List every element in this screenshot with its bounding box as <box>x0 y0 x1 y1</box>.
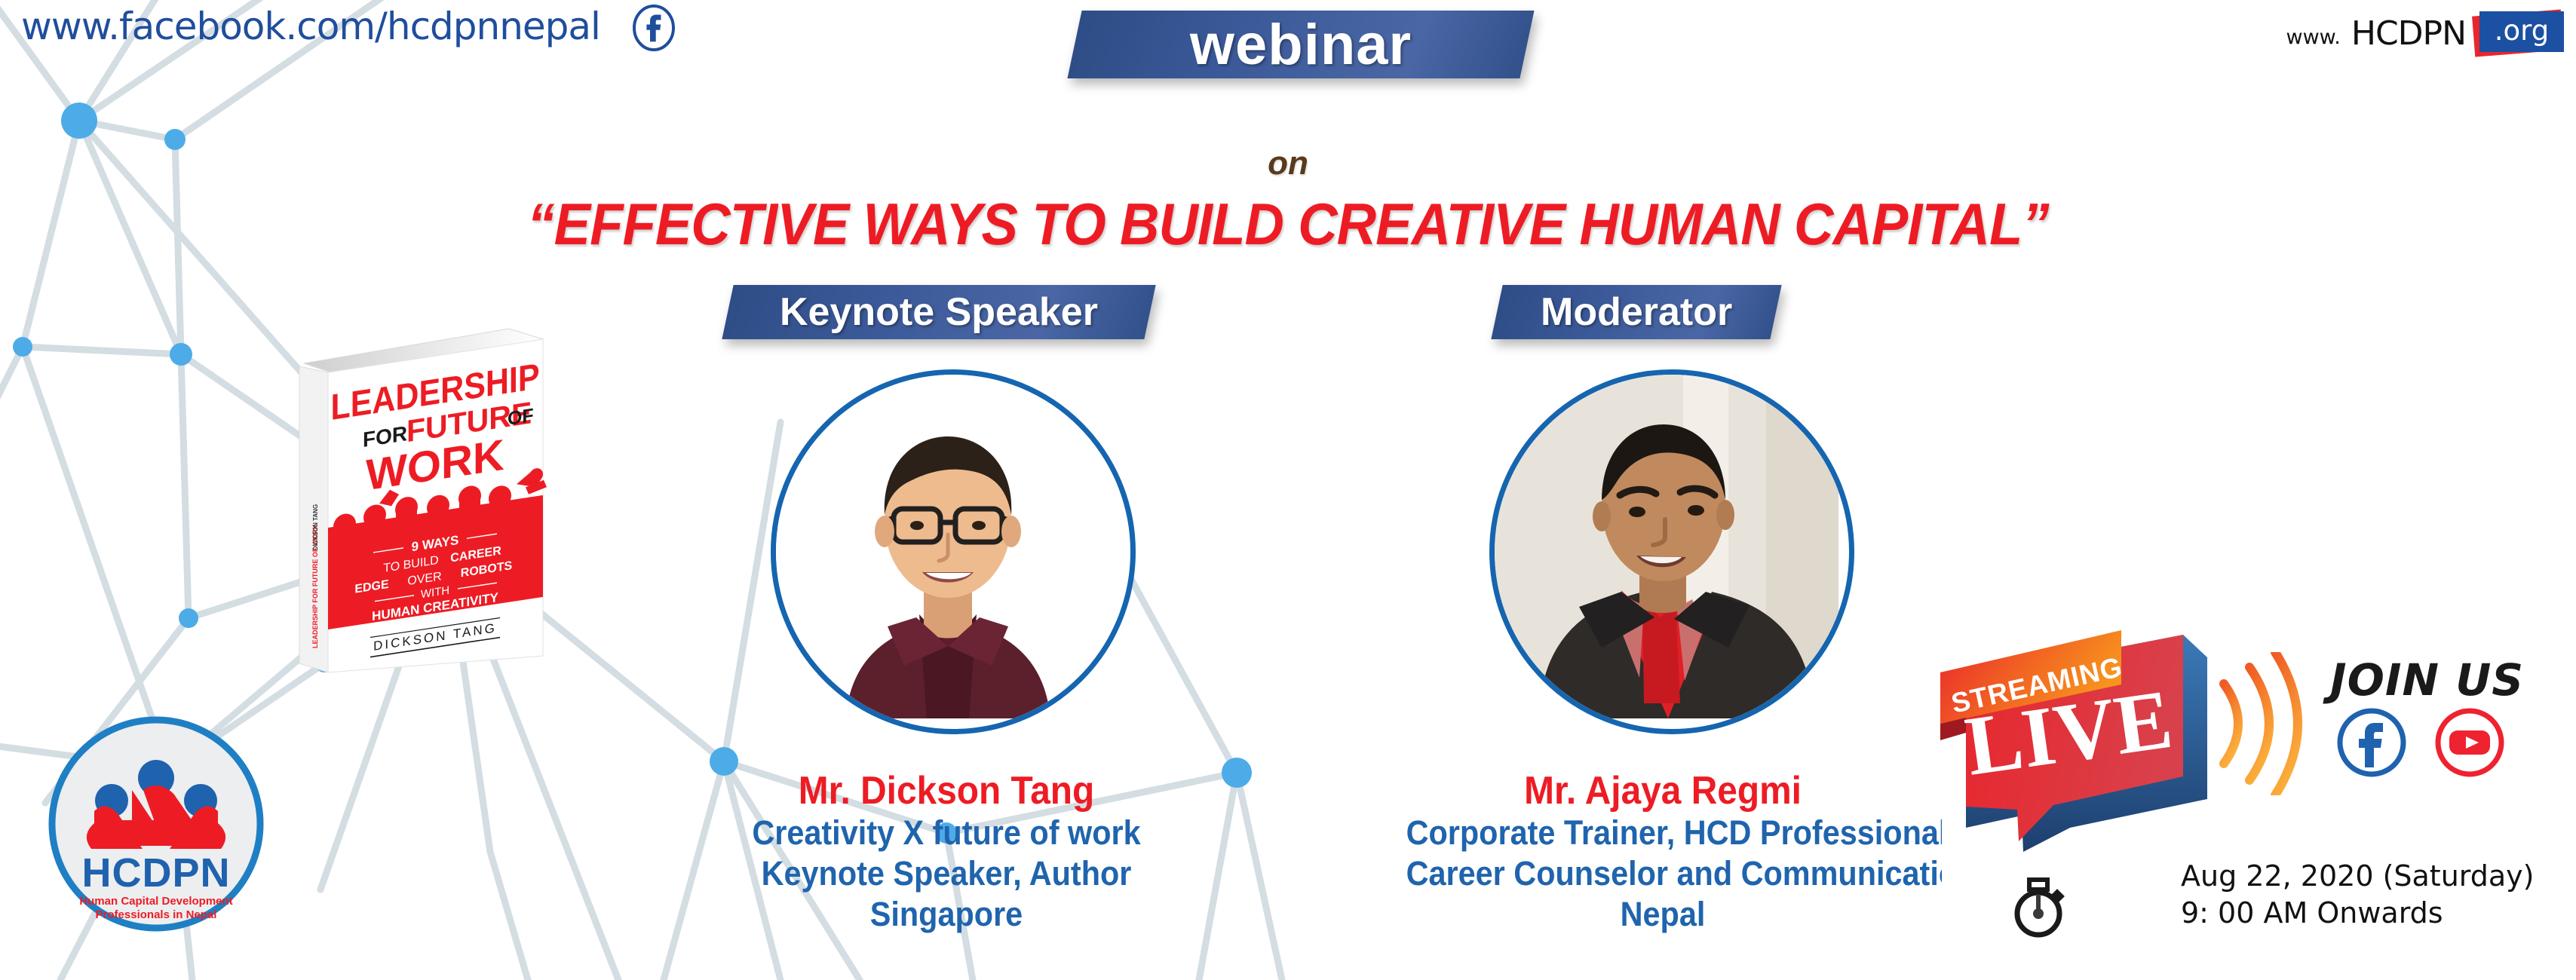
org-tld-badge: .org <box>2476 11 2565 55</box>
org-badge-label: .org <box>2495 14 2549 47</box>
broadcast-waves-icon <box>2213 652 2319 795</box>
title-connector: on <box>0 145 2576 182</box>
logo-tagline-line2: Professionals in Nepal <box>96 908 217 921</box>
hcdpn-logo: HCDPN Human Capital Development Professi… <box>47 715 265 933</box>
speaker-details-keynote: Mr. Dickson Tang Creativity X future of … <box>667 769 1225 935</box>
facebook-circle-icon[interactable] <box>2336 707 2407 778</box>
book-cover-image: LEADERSHIP FOR FUTURE OF WORK DICKSON TA… <box>283 324 562 686</box>
webinar-badge-label: webinar <box>1190 12 1412 78</box>
logo-tagline-line1: Human Capital Development <box>79 895 232 908</box>
speaker-detail-line: Nepal <box>1406 894 1920 935</box>
book-spine-author: DICKSON TANG <box>312 504 319 550</box>
youtube-circle-icon[interactable] <box>2434 707 2505 778</box>
webinar-poster: www.facebook.com/hcdpnnepal webinar www.… <box>0 0 2576 980</box>
speaker-detail-line: Corporate Trainer, HCD Professional <box>1406 813 1920 853</box>
role-badge-moderator: Moderator <box>1491 285 1781 339</box>
avatar-keynote-speaker <box>771 369 1136 734</box>
org-badge-blue-box: .org <box>2479 11 2564 52</box>
page-title: “EFFECTIVE WAYS TO BUILD CREATIVE HUMAN … <box>90 190 2486 259</box>
role-badge-keynote-speaker: Keynote Speaker <box>722 285 1155 339</box>
facebook-f-icon[interactable] <box>632 5 676 51</box>
event-date: Aug 22, 2020 (Saturday) <box>2181 858 2534 895</box>
avatar-moderator <box>1489 369 1854 734</box>
book-title-of: OF <box>508 405 534 430</box>
role-badge-keynote-label: Keynote Speaker <box>780 289 1098 335</box>
hcdpn-website-www: www. <box>2286 26 2341 49</box>
speaker-name: Mr. Dickson Tang <box>690 769 1204 813</box>
stopwatch-icon <box>2011 877 2065 939</box>
speaker-detail-line: Creativity X future of work <box>690 813 1204 853</box>
speaker-detail-line: Keynote Speaker, Author <box>690 853 1204 894</box>
streaming-live-badge: STREAMING LIVE <box>1927 626 2228 874</box>
hcdpn-website-name: HCDPN <box>2351 14 2466 53</box>
speaker-detail-line: Singapore <box>690 894 1204 935</box>
event-time: 9: 00 AM Onwards <box>2181 895 2534 932</box>
logo-acronym: HCDPN <box>81 850 230 896</box>
role-badge-moderator-label: Moderator <box>1541 289 1732 335</box>
event-schedule: Aug 22, 2020 (Saturday) 9: 00 AM Onwards <box>2181 858 2534 931</box>
webinar-badge: webinar <box>1067 11 1534 78</box>
speaker-details-moderator: Mr. Ajaya Regmi Corporate Trainer, HCD P… <box>1384 769 1942 935</box>
speaker-name: Mr. Ajaya Regmi <box>1406 769 1920 813</box>
social-links <box>2336 707 2505 778</box>
speaker-detail-line: Career Counselor and Communicatior <box>1406 853 1920 894</box>
hcdpn-website[interactable]: www. HCDPN .org <box>2286 11 2566 56</box>
join-us-label: JOIN US <box>2330 654 2524 706</box>
facebook-page-url[interactable]: www.facebook.com/hcdpnnepal <box>21 5 600 48</box>
